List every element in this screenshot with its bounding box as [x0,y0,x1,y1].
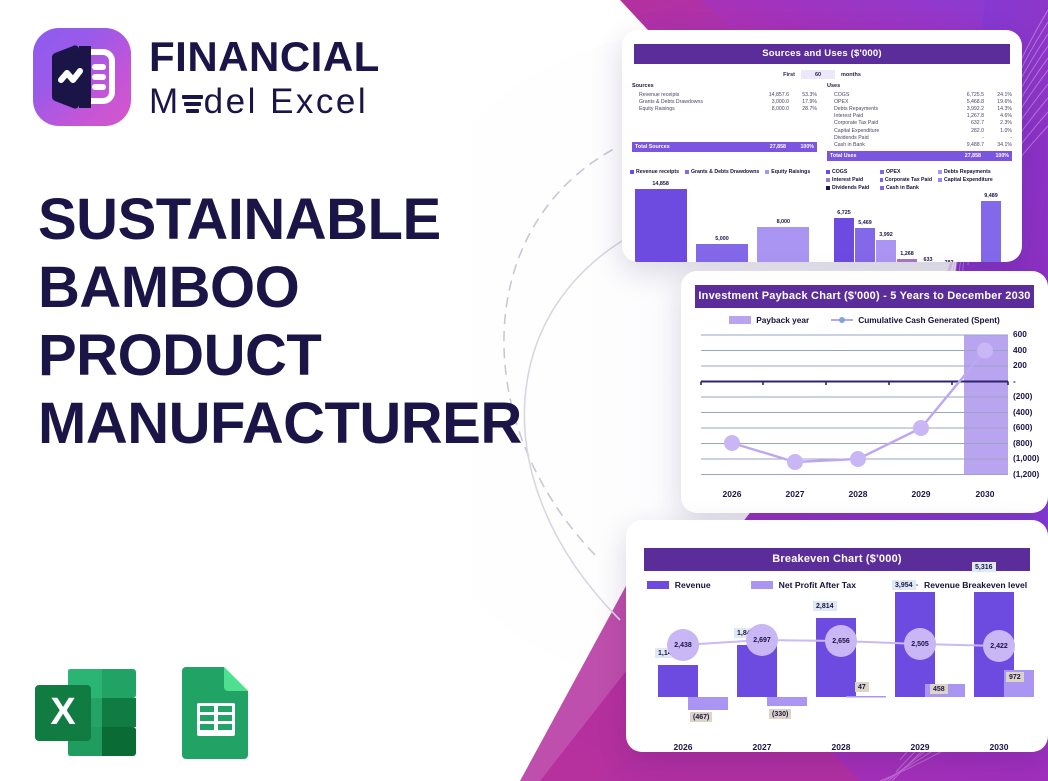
legend-label: Revenue receipts [636,169,679,175]
legend-label: Payback year [756,315,809,325]
card-breakeven: Breakeven Chart ($'000) Revenue Net Prof… [626,520,1048,752]
payback-year-swatch [729,316,751,324]
row-value: 14,857.6 [753,92,789,98]
y-tick: 200 [1013,360,1027,370]
total-label: Total Uses [827,153,945,159]
legend-label: Debts Repayments [944,169,991,175]
legend-label: COGS [832,169,847,175]
row-label: Interest Paid [827,113,948,119]
period-suffix: months [841,72,861,78]
y-tick: 400 [1013,345,1027,355]
row-pct: 14.3% [984,106,1012,112]
npat-value-label: (467) [690,712,712,722]
row-label: Debts Repayments [827,106,948,112]
row-label: Grants & Debts Drawdowns [632,99,753,105]
cumulative-cash-line [732,351,985,463]
row-pct: 4.6% [984,113,1012,119]
microsoft-excel-icon: X [33,663,138,768]
total-pct: 100% [981,153,1012,159]
table-row: Capital Expenditure 282.0 1.0% [827,127,1012,134]
legend-label: Grants & Debts Drawdowns [691,169,759,175]
total-sources-row: Total Sources 27,858 100% [632,142,817,152]
cumulative-cash-line-swatch [831,319,853,321]
table-row: OPEX 5,468.8 19.6% [827,98,1012,105]
period-prefix: First [783,72,795,78]
table-row: Cash in Bank 9,488.7 34.1% [827,141,1012,148]
y-tick: (600) [1013,422,1032,432]
bar-value-label: 633 [924,257,933,262]
row-value: 632.7 [948,120,984,126]
card-sources-and-uses: Sources and Uses ($'000) First 60 months… [622,30,1022,262]
x-tick: 2029 [901,489,941,499]
hamburger-icon [182,95,203,113]
legend-label: Interest Paid [832,177,863,183]
row-pct: 34.1% [984,142,1012,148]
total-value: 27,858 [750,144,786,150]
svg-text:X: X [50,691,76,733]
table-row: Revenue receipts 14,857.6 53.3% [632,91,817,98]
row-value: 282.0 [948,128,984,134]
table-row: Equity Raisings 8,000.0 28.7% [632,105,817,112]
y-tick: - [1013,376,1016,386]
page-title: SUSTAINABLE BAMBOO PRODUCT MANUFACTURER [38,186,528,457]
npat-swatch [751,581,773,589]
bar-value-label: 8,000 [777,219,791,225]
table-row: Corporate Tax Paid 632.7 2.3% [827,120,1012,127]
x-tick: 2027 [742,742,782,752]
row-label: Equity Raisings [632,106,753,112]
row-value: 9,488.7 [948,142,984,148]
bar-value-label: 14,858 [652,181,669,187]
row-pct: 17.9% [789,99,817,105]
uses-bar-chart: COGS OPEX Debts Repayments Interest Paid… [822,169,1022,262]
uses-legend: COGS OPEX Debts Repayments Interest Paid… [822,169,1022,193]
bar-value-label: 9,489 [984,193,998,199]
breakeven-bubble: 2,505 [904,628,936,660]
row-value: 6,725.5 [948,92,984,98]
row-pct: 1.0% [984,128,1012,134]
period-selector: First 60 months [622,70,1022,79]
legend-label: Capital Expenditure [944,177,993,183]
total-label: Total Sources [632,144,750,150]
revenue-value-label: 2,814 [813,601,837,611]
bar-value-label: 3,992 [879,232,893,238]
row-pct: 24.1% [984,92,1012,98]
slide-canvas: FINANCIAL M del Excel SUSTAINABLE BAMBOO… [0,0,1048,781]
brand-logo: FINANCIAL M del Excel [33,28,380,126]
uses-column: Uses COGS 6,725.5 24.1% OPEX 5,468.8 19.… [827,83,1012,161]
legend-label: Equity Raisings [771,169,810,175]
row-pct: 28.7% [789,106,817,112]
app-icons: X [33,663,254,768]
row-label: Revenue receipts [632,92,753,98]
total-value: 27,858 [945,153,981,159]
row-label: COGS [827,92,948,98]
table-row: Interest Paid 1,267.8 4.6% [827,113,1012,120]
y-tick: (200) [1013,391,1032,401]
row-label: Cash in Bank [827,142,948,148]
row-value: 5,468.8 [948,99,984,105]
x-tick: 2027 [775,489,815,499]
npat-value-label: 972 [1006,672,1024,682]
total-uses-row: Total Uses 27,858 100% [827,151,1012,161]
bar-value-label: 5,469 [858,220,872,226]
x-tick: 2028 [821,742,861,752]
npat-value-label: 47 [855,682,869,692]
revenue-value-label: 3,954 [892,580,916,590]
sources-uses-title: Sources and Uses ($'000) [634,44,1010,64]
legend-label: Cash in Bank [886,185,919,191]
row-label: Capital Expenditure [827,128,948,134]
row-value: - [948,135,984,141]
table-row: Dividends Paid - - [827,134,1012,141]
breakeven-bubble: 2,438 [667,629,699,661]
financial-model-app-icon [33,28,131,126]
sources-uses-table: Sources Revenue receipts 14,857.6 53.3% … [632,83,1012,161]
x-tick: 2026 [712,489,752,499]
row-value: 3,992.2 [948,106,984,112]
legend-label: Net Profit After Tax [779,580,856,590]
breakeven-bubble: 2,697 [746,624,778,656]
google-sheets-icon [178,663,254,768]
legend-label: Cumulative Cash Generated (Spent) [858,315,1000,325]
npat-value-label: (330) [769,709,791,719]
table-row: Debts Repayments 3,992.2 14.3% [827,105,1012,112]
period-months-input[interactable]: 60 [801,70,835,79]
legend-label: Revenue Breakeven level [924,580,1027,590]
y-tick: (1,200) [1013,469,1039,479]
cumulative-cash-markers [724,343,993,471]
sources-header: Sources [632,83,817,89]
x-tick: 2030 [979,742,1019,752]
sources-bar-chart: Revenue receipts Grants & Debts Drawdown… [622,169,822,262]
breakeven-legend: Revenue Net Profit After Tax Revenue Bre… [626,580,1048,590]
legend-label: Dividends Paid [832,185,869,191]
y-tick: (1,000) [1013,453,1039,463]
x-tick: 2029 [900,742,940,752]
brand-name-line1: FINANCIAL [149,36,380,78]
y-tick: 600 [1013,329,1027,339]
breakeven-plot: 1,140 1,848 2,814 3,954 5,316 (467) (330… [640,592,1034,742]
bar-value-label: 1,268 [900,251,914,257]
total-pct: 100% [786,144,817,150]
row-value: 3,000.0 [753,99,789,105]
legend-label: Corporate Tax Paid [885,177,932,183]
brand-rest: del Excel [204,84,369,119]
uses-header: Uses [827,83,1012,89]
row-pct: 19.6% [984,99,1012,105]
revenue-swatch [647,581,669,589]
row-pct: - [984,135,1012,141]
payback-legend: Payback year Cumulative Cash Generated (… [681,315,1048,325]
x-tick: 2026 [663,742,703,752]
legend-label: Revenue [675,580,711,590]
payback-plot: 600 400 200 - (200) (400) (600) (800) (1… [693,331,1040,481]
row-label: Corporate Tax Paid [827,120,948,126]
brand-name-line2: M del Excel [149,84,380,119]
y-tick: (800) [1013,438,1032,448]
row-pct: 2.3% [984,120,1012,126]
bar-value-label: 282 [945,260,954,262]
payback-chart-title: Investment Payback Chart ($'000) - 5 Yea… [695,285,1034,308]
x-tick: 2030 [965,489,1005,499]
legend-label: OPEX [886,169,900,175]
card-investment-payback: Investment Payback Chart ($'000) - 5 Yea… [681,271,1048,513]
breakeven-bubble: 2,422 [983,630,1015,662]
npat-value-label: 458 [930,684,948,694]
x-tick: 2028 [838,489,878,499]
left-content: FINANCIAL M del Excel SUSTAINABLE BAMBOO… [0,0,560,781]
bar-value-label: 5,000 [715,236,729,242]
row-label: Dividends Paid [827,135,948,141]
row-pct: 53.3% [789,92,817,98]
sources-legend: Revenue receipts Grants & Debts Drawdown… [622,169,822,177]
table-row: COGS 6,725.5 24.1% [827,91,1012,98]
bar-value-label: 6,725 [837,210,851,216]
breakeven-bubble: 2,656 [825,625,857,657]
row-value: 1,267.8 [948,113,984,119]
table-row: Grants & Debts Drawdowns 3,000.0 17.9% [632,98,817,105]
y-tick: (400) [1013,407,1032,417]
revenue-value-label: 5,316 [972,562,996,572]
row-value: 8,000.0 [753,106,789,112]
sources-column: Sources Revenue receipts 14,857.6 53.3% … [632,83,817,161]
brand-m: M [149,84,181,119]
row-label: OPEX [827,99,948,105]
